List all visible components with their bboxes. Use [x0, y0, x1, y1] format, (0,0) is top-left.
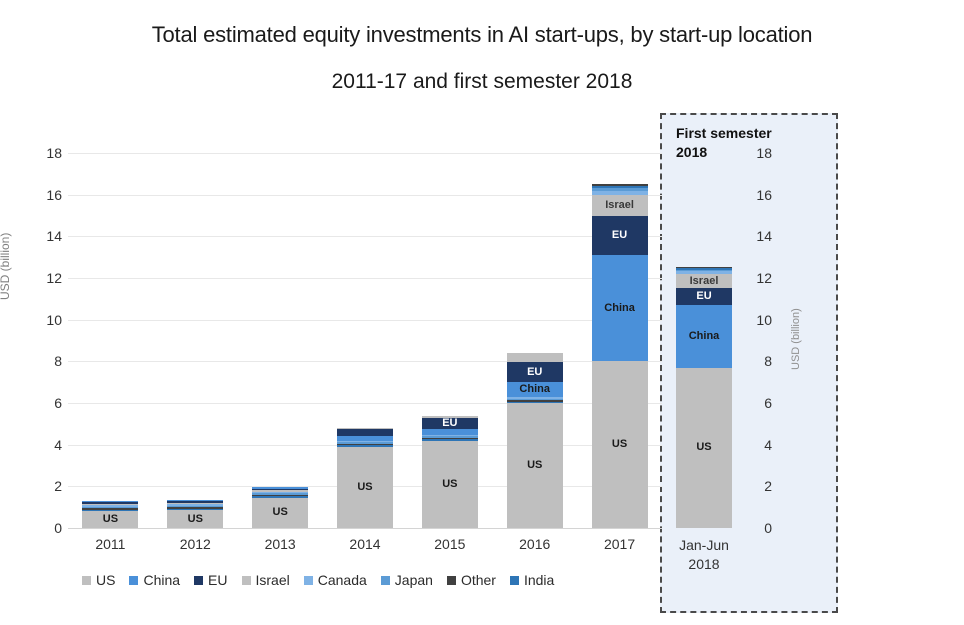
y-tick-label-left: 8 [28, 353, 62, 369]
x-tick-label: 2013 [232, 536, 328, 552]
bar-stack: IsraelEUChinaUS [592, 184, 648, 528]
bar-segment-china[interactable]: China [507, 382, 563, 397]
bars-layer-highlight: IsraelEUChinaUS [662, 153, 746, 528]
bar-segment-us[interactable]: US [592, 361, 648, 528]
legend-item-other[interactable]: Other [447, 572, 496, 588]
y-tick-label-right: 16 [746, 187, 772, 203]
y-tick-label-left: 18 [28, 145, 62, 161]
y-axis-label-left: USD (billion) [0, 233, 12, 300]
legend-item-eu[interactable]: EU [194, 572, 227, 588]
bar-segment-us[interactable]: US [676, 368, 732, 528]
bar-stack: US [82, 501, 138, 528]
bar-group[interactable]: EUChinaUS [507, 153, 563, 528]
first-semester-label-line-1: First semester [676, 125, 772, 141]
bar-segment-label: China [689, 331, 720, 342]
bar-segment-israel[interactable]: Israel [676, 274, 732, 289]
x-tick-label: Jan-Jun2018 [656, 536, 752, 574]
bar-group[interactable]: US [337, 153, 393, 528]
bar-segment-label: EU [696, 291, 711, 302]
legend-label: US [96, 572, 115, 588]
bar-segment-us[interactable]: US [422, 441, 478, 529]
legend-swatch-icon [447, 576, 456, 585]
legend-swatch-icon [194, 576, 203, 585]
y-tick-label-right: 14 [746, 228, 772, 244]
y-tick-label-left: 2 [28, 478, 62, 494]
x-tick-label-line-1: Jan-Jun [679, 537, 729, 553]
bar-segment-us[interactable]: US [167, 510, 223, 528]
y-axis-label-right: USD (billion) [790, 308, 802, 370]
legend-label: Other [461, 572, 496, 588]
bar-segment-label: US [442, 479, 457, 490]
bar-segment-label: Israel [605, 200, 634, 211]
bar-segment-label: EU [442, 418, 457, 429]
legend-item-china[interactable]: China [129, 572, 180, 588]
x-tick-label: 2015 [402, 536, 498, 552]
bar-group[interactable]: US [82, 153, 138, 528]
legend-label: EU [208, 572, 227, 588]
y-tick-label-right: 8 [746, 353, 772, 369]
y-axis-left: 024681012141618 [24, 153, 62, 528]
y-tick-label-left: 4 [28, 437, 62, 453]
legend-item-israel[interactable]: Israel [242, 572, 290, 588]
bar-segment-us[interactable]: US [337, 447, 393, 528]
bar-segment-label: US [273, 507, 288, 518]
bars-layer: USUSUSUSEUUSEUChinaUSIsraelEUChinaUS [68, 153, 662, 528]
bar-segment-label: Israel [690, 276, 719, 287]
legend-item-us[interactable]: US [82, 572, 115, 588]
bar-segment-israel[interactable] [507, 353, 563, 361]
legend-label: Japan [395, 572, 433, 588]
y-tick-label-right: 2 [746, 478, 772, 494]
bar-group[interactable]: US [252, 153, 308, 528]
legend-item-india[interactable]: India [510, 572, 554, 588]
bar-stack: EUChinaUS [507, 353, 563, 528]
bar-segment-label: EU [612, 230, 627, 241]
y-tick-label-right: 10 [746, 312, 772, 328]
bar-segment-china[interactable]: China [676, 305, 732, 368]
legend-label: China [143, 572, 180, 588]
chart-title-line-2: 2011-17 and first semester 2018 [0, 70, 964, 94]
bar-segment-eu[interactable]: EU [422, 418, 478, 429]
x-tick-label-line-2: 2018 [688, 556, 719, 572]
bar-segment-label: US [696, 442, 711, 453]
bar-segment-israel[interactable]: Israel [592, 195, 648, 216]
y-tick-label-left: 0 [28, 520, 62, 536]
legend-label: Canada [318, 572, 367, 588]
bar-stack: IsraelEUChinaUS [676, 267, 732, 528]
x-tick-label: 2011 [62, 536, 158, 552]
bar-segment-eu[interactable]: EU [676, 288, 732, 305]
chart-page: Total estimated equity investments in AI… [0, 0, 964, 625]
bar-segment-label: China [519, 384, 550, 395]
legend-swatch-icon [82, 576, 91, 585]
bar-segment-us[interactable]: US [252, 498, 308, 528]
y-tick-label-left: 14 [28, 228, 62, 244]
y-tick-label-left: 6 [28, 395, 62, 411]
legend-label: India [524, 572, 554, 588]
legend-label: Israel [256, 572, 290, 588]
legend-item-japan[interactable]: Japan [381, 572, 433, 588]
bar-segment-label: US [103, 514, 118, 525]
bar-stack: US [252, 487, 308, 528]
legend-swatch-icon [304, 576, 313, 585]
bar-segment-us[interactable]: US [82, 511, 138, 528]
bar-stack: US [167, 500, 223, 528]
x-tick-label: 2012 [147, 536, 243, 552]
bar-segment-china[interactable]: China [592, 255, 648, 361]
bar-segment-label: EU [527, 367, 542, 378]
x-tick-label: 2017 [572, 536, 668, 552]
bar-stack: EUUS [422, 416, 478, 528]
x-tick-label: 2014 [317, 536, 413, 552]
bar-segment-us[interactable]: US [507, 403, 563, 528]
bar-group[interactable]: US [167, 153, 223, 528]
legend-swatch-icon [510, 576, 519, 585]
y-tick-label-right: 0 [746, 520, 772, 536]
y-tick-label-right: 18 [746, 145, 772, 161]
x-tick-label: 2016 [487, 536, 583, 552]
bar-stack: US [337, 428, 393, 528]
legend-item-canada[interactable]: Canada [304, 572, 367, 588]
bar-group[interactable]: IsraelEUChinaUS [676, 153, 732, 528]
bar-segment-label: US [188, 514, 203, 525]
chart-legend: USChinaEUIsraelCanadaJapanOtherIndia [82, 572, 554, 588]
bar-segment-label: US [612, 439, 627, 450]
y-axis-right: 024681012141618 [746, 153, 776, 528]
y-tick-label-right: 4 [746, 437, 772, 453]
legend-swatch-icon [129, 576, 138, 585]
y-tick-label-right: 6 [746, 395, 772, 411]
bar-group[interactable]: IsraelEUChinaUS [592, 153, 648, 528]
y-tick-label-right: 12 [746, 270, 772, 286]
bar-segment-label: China [604, 303, 635, 314]
bar-segment-eu[interactable]: EU [592, 216, 648, 256]
legend-swatch-icon [242, 576, 251, 585]
bar-segment-label: US [527, 460, 542, 471]
bar-group[interactable]: EUUS [422, 153, 478, 528]
axis-baseline [68, 528, 662, 529]
y-tick-label-left: 12 [28, 270, 62, 286]
y-tick-label-left: 10 [28, 312, 62, 328]
y-tick-label-left: 16 [28, 187, 62, 203]
bar-segment-eu[interactable]: EU [507, 362, 563, 383]
bar-segment-label: US [357, 482, 372, 493]
chart-title-line-1: Total estimated equity investments in AI… [0, 22, 964, 48]
legend-swatch-icon [381, 576, 390, 585]
